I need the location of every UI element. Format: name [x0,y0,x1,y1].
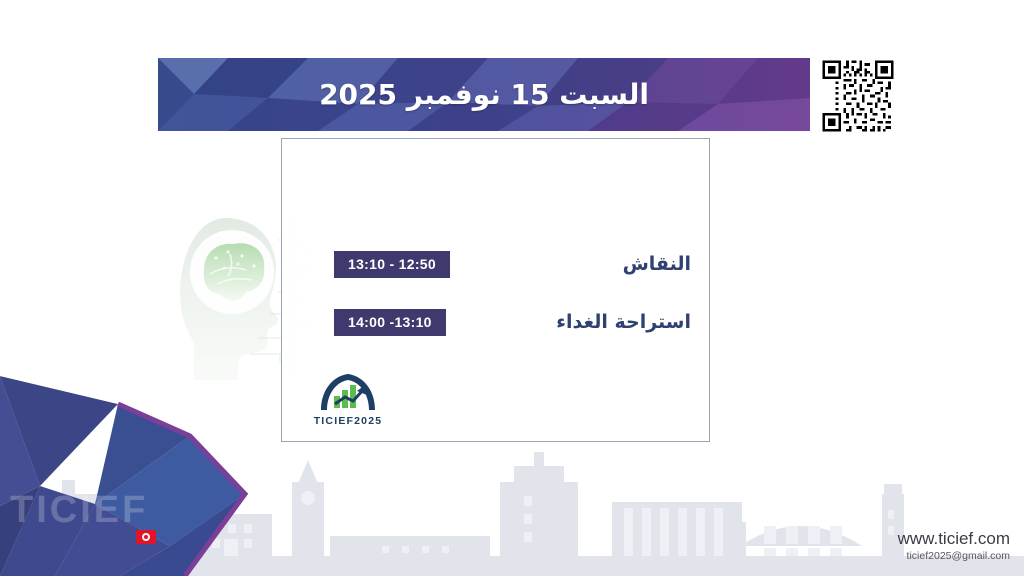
contact-block: www.ticief.com ticief2025@gmail.com [898,529,1010,562]
slide-root: TICIEF [0,0,1024,576]
corner-polygon-decoration [0,376,270,576]
schedule-row[interactable]: النقاش 13:10 - 12:50 [282,235,709,293]
website-link[interactable]: www.ticief.com [898,529,1010,549]
event-logo: TICIEF2025 [302,372,394,427]
date-banner: السبت 15 نوفمبر 2025 [158,58,810,131]
watermark-text: TICIEF [10,489,148,532]
schedule-rows: النقاش 13:10 - 12:50 استراحة الغداء 14:0… [282,235,709,351]
session-time-badge: 13:10 - 12:50 [334,251,450,278]
email-link[interactable]: ticief2025@gmail.com [898,550,1010,562]
page-title: السبت 15 نوفمبر 2025 [158,58,810,131]
schedule-panel: النقاش 13:10 - 12:50 استراحة الغداء 14:0… [281,138,710,442]
session-label: النقاش [623,253,691,275]
session-label: استراحة الغداء [556,311,691,333]
schedule-row[interactable]: استراحة الغداء 14:00 -13:10 [282,293,709,351]
event-logo-text: TICIEF2025 [302,415,394,427]
session-time-badge: 14:00 -13:10 [334,309,446,336]
qr-code-icon[interactable] [820,58,896,134]
ticief-logo-icon [317,372,379,414]
tunisia-flag-icon [136,530,156,544]
